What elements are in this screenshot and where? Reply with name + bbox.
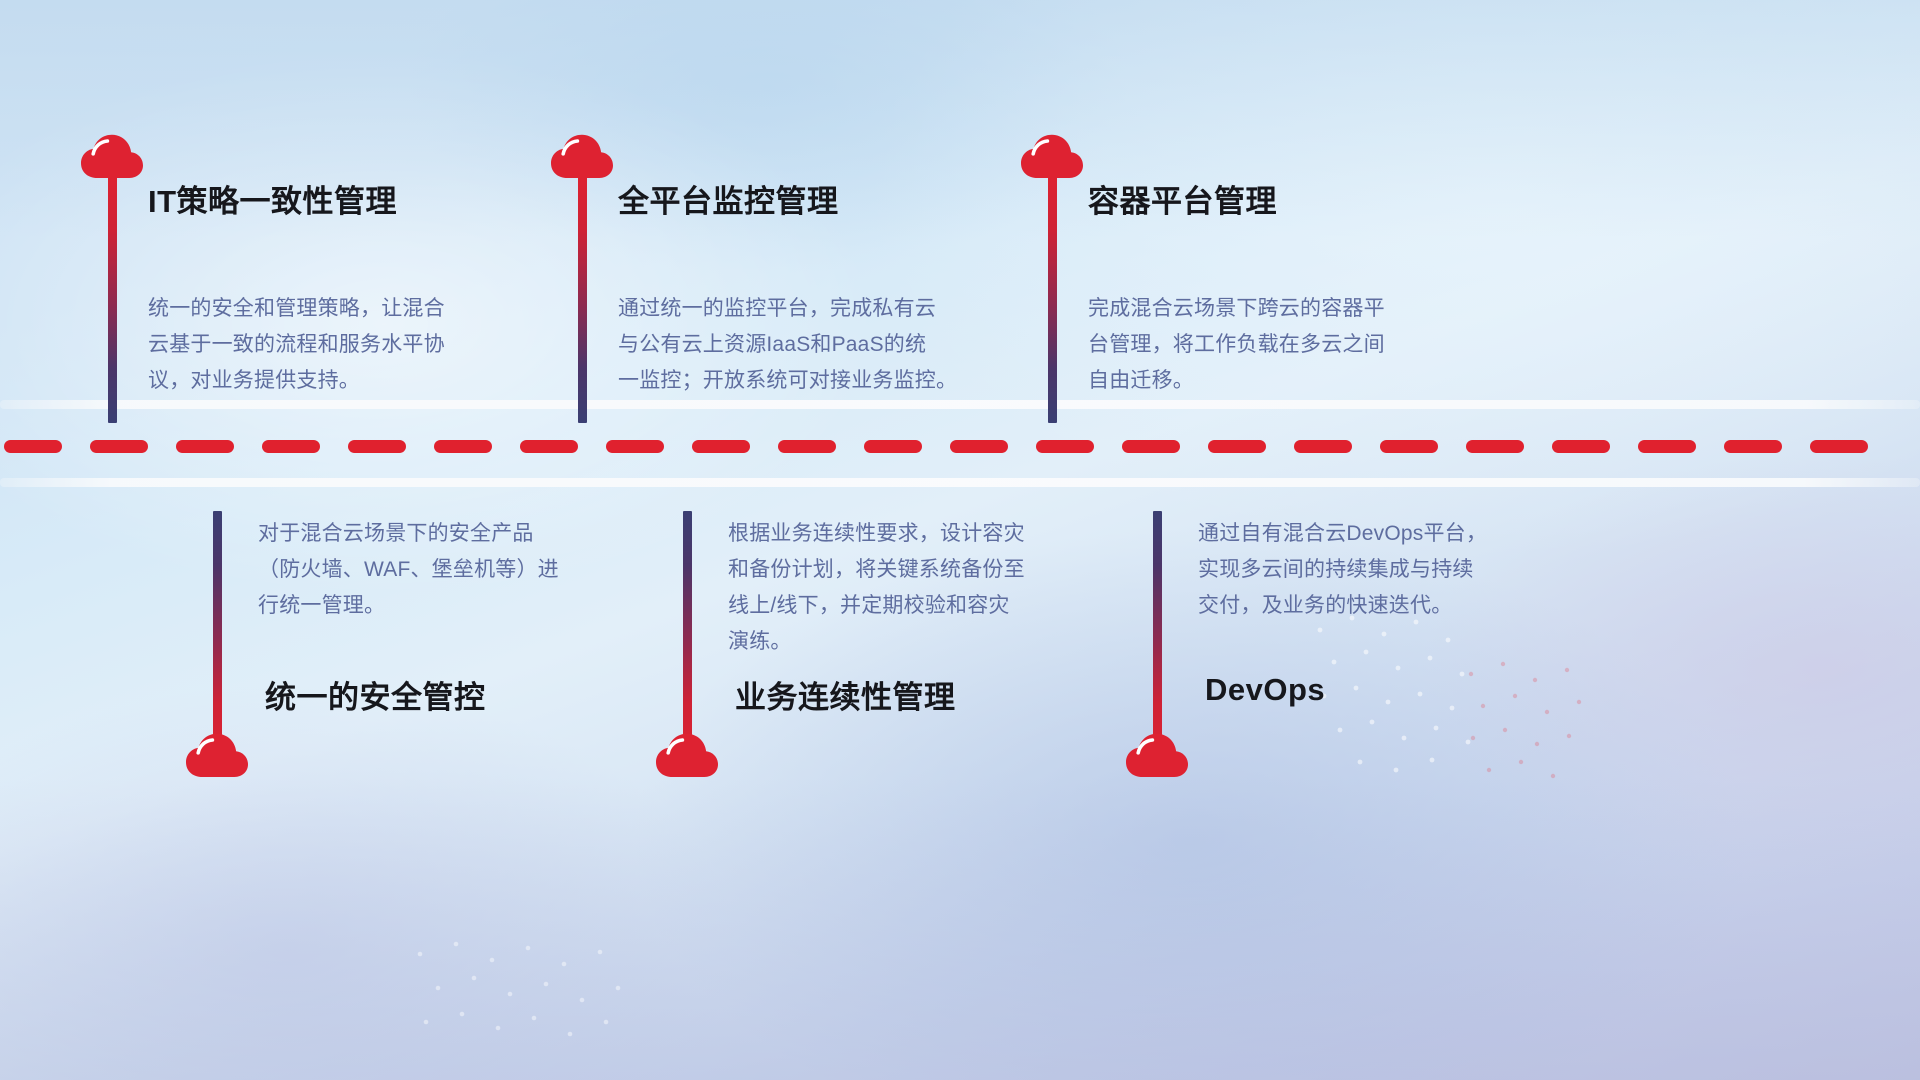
- road-dash: [1380, 440, 1438, 453]
- road-dash: [90, 440, 148, 453]
- body-line: 完成混合云场景下跨云的容器平: [1088, 291, 1448, 327]
- body-line: 一监控；开放系统可对接业务监控。: [618, 363, 988, 399]
- decorative-dot-cluster-red: [1455, 650, 1645, 810]
- marker-stem: [1153, 511, 1162, 758]
- road-dash: [950, 440, 1008, 453]
- road-edge-top: [0, 400, 1920, 409]
- road-dash: [434, 440, 492, 453]
- marker-stem: [683, 511, 692, 758]
- road-dash: [864, 440, 922, 453]
- road-dash: [348, 440, 406, 453]
- body-line: 演练。: [728, 624, 1098, 660]
- road-dash: [1810, 440, 1868, 453]
- body-line: 与公有云上资源IaaS和PaaS的统: [618, 327, 988, 363]
- marker-stem: [213, 511, 222, 758]
- decorative-dot-cluster-bottom: [400, 930, 700, 1060]
- body-line: 通过统一的监控平台，完成私有云: [618, 291, 988, 327]
- cloud-icon: [550, 134, 614, 180]
- cloud-icon: [185, 733, 249, 779]
- body-line: 线上/线下，并定期校验和容灾: [728, 588, 1098, 624]
- marker-top-3-title: 容器平台管理: [1088, 176, 1277, 221]
- road-edge-bottom: [0, 478, 1920, 487]
- cloud-icon: [80, 134, 144, 180]
- road-dash: [1724, 440, 1782, 453]
- marker-stem: [578, 176, 587, 423]
- marker-bottom-3-title: DevOps: [1205, 672, 1325, 708]
- cloud-icon: [1020, 134, 1084, 180]
- road-dash: [176, 440, 234, 453]
- marker-bottom-1-title: 统一的安全管控: [265, 672, 486, 717]
- marker-top-3-body: 完成混合云场景下跨云的容器平 台管理，将工作负载在多云之间 自由迁移。: [1088, 291, 1448, 399]
- infographic-canvas: IT策略一致性管理 统一的安全和管理策略，让混合 云基于一致的流程和服务水平协 …: [0, 0, 1920, 1080]
- road-dash: [606, 440, 664, 453]
- road-center-dashes: [0, 439, 1920, 453]
- cloud-icon: [655, 733, 719, 779]
- body-line: 对于混合云场景下的安全产品: [258, 516, 618, 552]
- marker-top-2-body: 通过统一的监控平台，完成私有云 与公有云上资源IaaS和PaaS的统 一监控；开…: [618, 291, 988, 399]
- decorative-dot-cluster-left: [1300, 600, 1560, 790]
- road-dash: [1208, 440, 1266, 453]
- marker-bottom-1-body: 对于混合云场景下的安全产品 （防火墙、WAF、堡垒机等）进 行统一管理。: [258, 516, 618, 624]
- body-line: 台管理，将工作负载在多云之间: [1088, 327, 1448, 363]
- body-line: 自由迁移。: [1088, 363, 1448, 399]
- marker-bottom-2-body: 根据业务连续性要求，设计容灾 和备份计划，将关键系统备份至 线上/线下，并定期校…: [728, 516, 1098, 660]
- cloud-icon: [1125, 733, 1189, 779]
- body-line: 行统一管理。: [258, 588, 618, 624]
- body-line: 议，对业务提供支持。: [148, 363, 508, 399]
- road-dash: [4, 440, 62, 453]
- marker-top-2-title: 全平台监控管理: [618, 176, 839, 221]
- road-dash: [1552, 440, 1610, 453]
- body-line: 交付，及业务的快速迭代。: [1198, 588, 1558, 624]
- marker-bottom-3-body: 通过自有混合云DevOps平台， 实现多云间的持续集成与持续 交付，及业务的快速…: [1198, 516, 1558, 624]
- body-line: 根据业务连续性要求，设计容灾: [728, 516, 1098, 552]
- marker-top-1-title: IT策略一致性管理: [148, 176, 397, 221]
- road-dash: [1466, 440, 1524, 453]
- marker-stem: [108, 176, 117, 423]
- road-dash: [778, 440, 836, 453]
- road-dash: [520, 440, 578, 453]
- road-dash: [692, 440, 750, 453]
- body-line: 统一的安全和管理策略，让混合: [148, 291, 508, 327]
- marker-bottom-2-title: 业务连续性管理: [735, 672, 956, 717]
- road-dash: [262, 440, 320, 453]
- body-line: 实现多云间的持续集成与持续: [1198, 552, 1558, 588]
- road-dash: [1638, 440, 1696, 453]
- body-line: （防火墙、WAF、堡垒机等）进: [258, 552, 618, 588]
- marker-top-1-body: 统一的安全和管理策略，让混合 云基于一致的流程和服务水平协 议，对业务提供支持。: [148, 291, 508, 399]
- body-line: 和备份计划，将关键系统备份至: [728, 552, 1098, 588]
- road-dash: [1036, 440, 1094, 453]
- body-line: 云基于一致的流程和服务水平协: [148, 327, 508, 363]
- marker-stem: [1048, 176, 1057, 423]
- body-line: 通过自有混合云DevOps平台，: [1198, 516, 1558, 552]
- road-dash: [1122, 440, 1180, 453]
- road-dash: [1294, 440, 1352, 453]
